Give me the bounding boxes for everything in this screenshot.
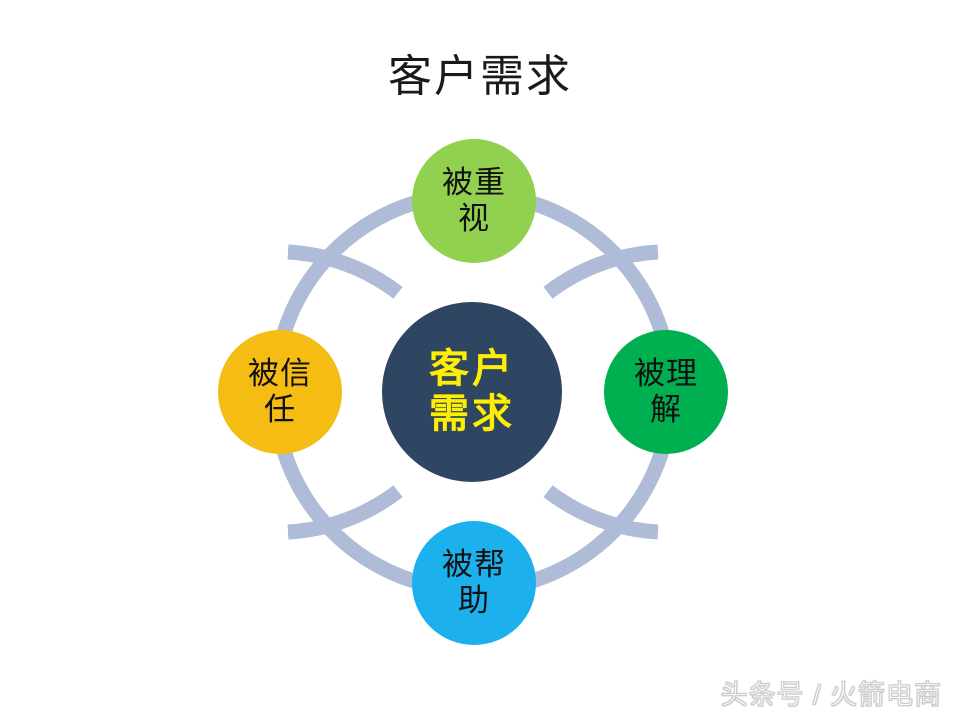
node-center-customer-needs[interactable]: 客户需求 <box>382 302 562 482</box>
slide-canvas: 客户需求 被重视 被理解 被 <box>0 0 960 720</box>
cycle-diagram: 被重视 被理解 被帮助 被信任 客户需求 <box>0 0 960 720</box>
watermark-text: 头条号 / 火箭电商 <box>720 673 942 712</box>
node-bottom-helped[interactable]: 被帮助 <box>412 521 536 645</box>
node-right-understood[interactable]: 被理解 <box>604 330 728 454</box>
node-left-label: 被信任 <box>238 356 322 428</box>
node-right-label: 被理解 <box>624 356 708 428</box>
node-top-valued[interactable]: 被重视 <box>412 139 536 263</box>
node-left-trusted[interactable]: 被信任 <box>218 330 342 454</box>
node-top-label: 被重视 <box>432 165 516 237</box>
node-bottom-label: 被帮助 <box>432 547 516 619</box>
node-center-label: 客户需求 <box>419 347 525 437</box>
